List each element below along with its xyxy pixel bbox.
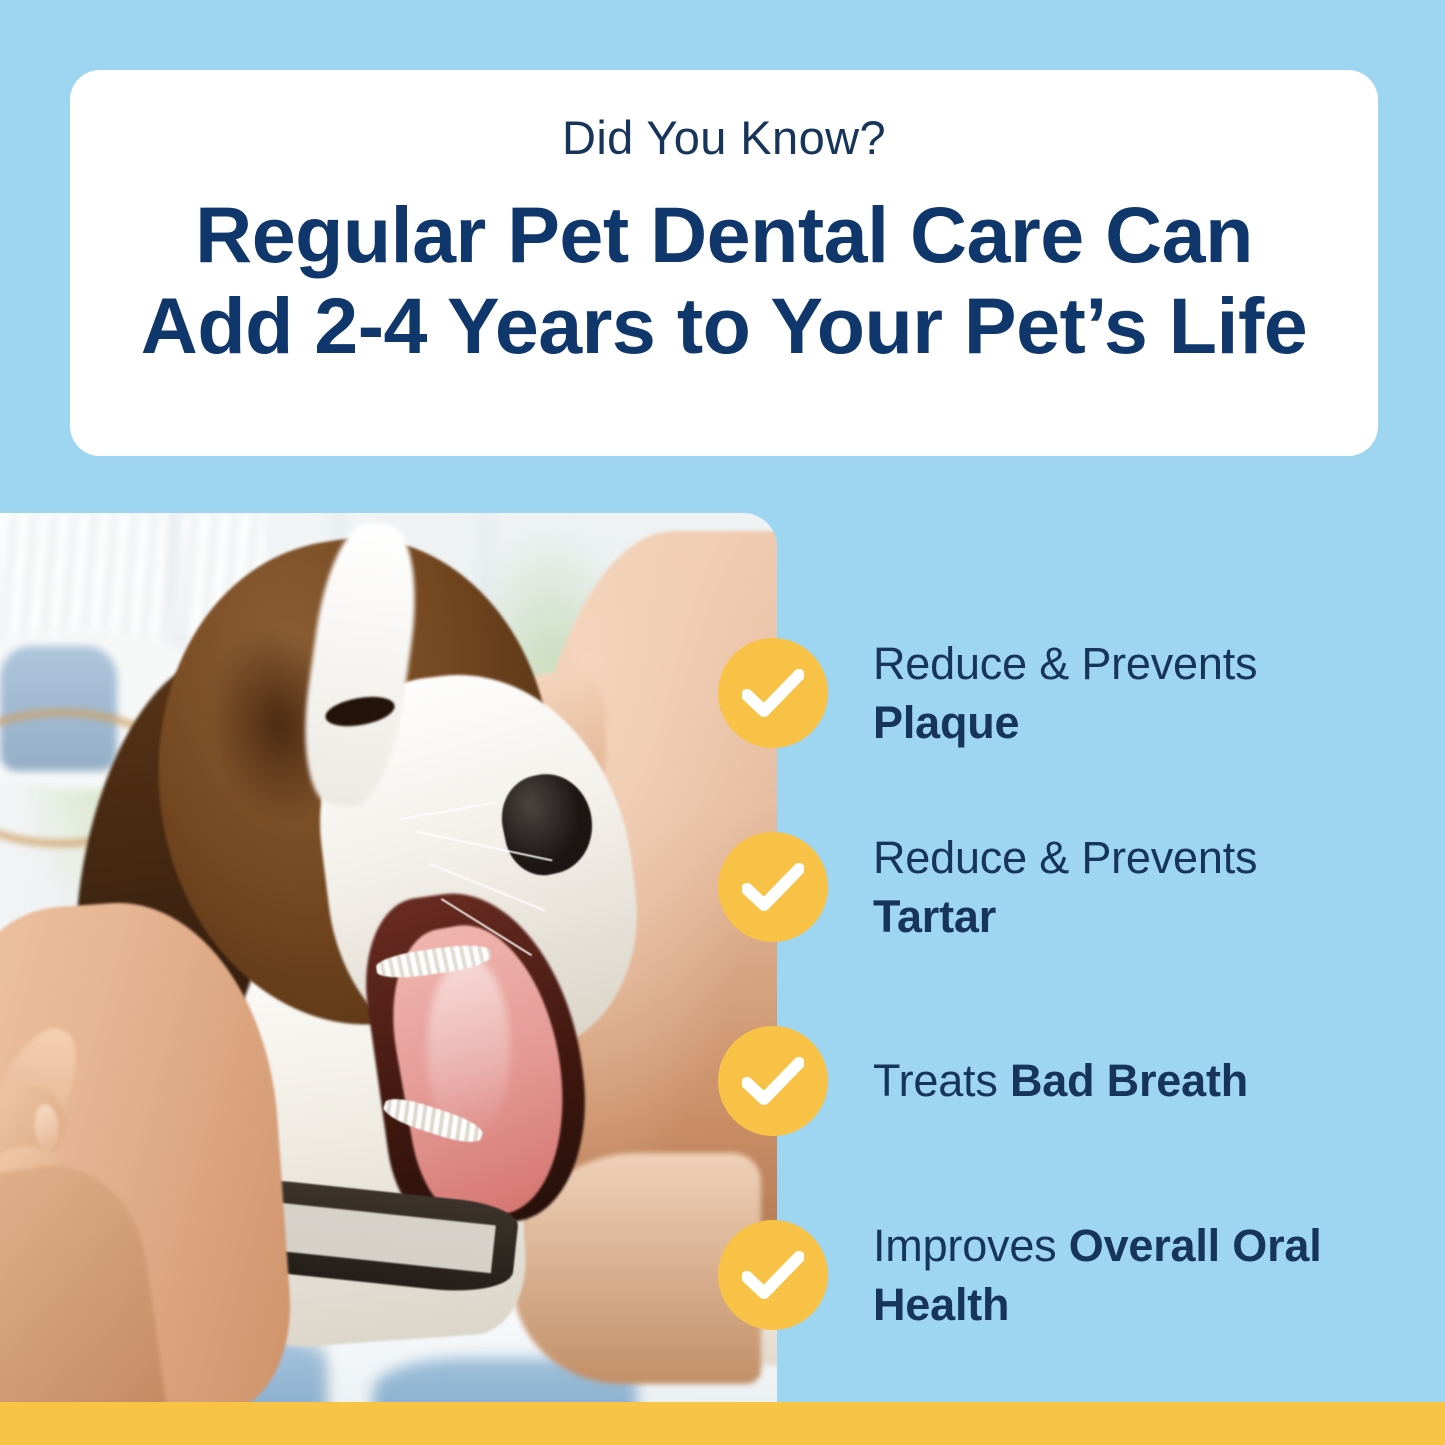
page-title-line-2: Add 2-4 Years to Your Pet’s Life xyxy=(141,281,1307,372)
checklist-item-tartar: Reduce & Prevents Tartar xyxy=(718,790,1378,984)
check-icon xyxy=(718,1220,828,1330)
page-title-line-1: Regular Pet Dental Care Can xyxy=(195,190,1253,279)
checklist-item-prefix: Reduce & Prevents xyxy=(873,832,1257,883)
dog-photo xyxy=(0,513,777,1402)
infographic-poster: Did You Know? Regular Pet Dental Care Ca… xyxy=(0,0,1445,1445)
checklist-item-prefix: Improves xyxy=(873,1220,1069,1271)
checklist-item-bad-breath: Treats Bad Breath xyxy=(718,984,1378,1178)
headline-card: Did You Know? Regular Pet Dental Care Ca… xyxy=(70,70,1378,456)
checklist-item-text: Reduce & Prevents Tartar xyxy=(873,828,1378,947)
check-icon xyxy=(718,638,828,748)
checklist-item-emphasis: Tartar xyxy=(873,891,996,942)
checklist-item-prefix: Treats xyxy=(873,1055,1010,1106)
checklist-item-emphasis: Plaque xyxy=(873,697,1019,748)
page-title: Regular Pet Dental Care Can Add 2-4 Year… xyxy=(115,190,1333,372)
benefits-checklist: Reduce & Prevents Plaque Reduce & Preven… xyxy=(718,596,1378,1372)
bottom-accent-bar xyxy=(0,1402,1445,1445)
checklist-item-text: Treats Bad Breath xyxy=(873,1051,1248,1110)
dog-whiskers xyxy=(414,790,656,1041)
check-icon xyxy=(718,1026,828,1136)
checklist-item-text: Reduce & Prevents Plaque xyxy=(873,634,1378,753)
checklist-item-plaque: Reduce & Prevents Plaque xyxy=(718,596,1378,790)
checklist-item-prefix: Reduce & Prevents xyxy=(873,638,1257,689)
eyebrow-text: Did You Know? xyxy=(562,112,886,164)
photo-scene xyxy=(0,513,777,1402)
checklist-item-text: Improves Overall Oral Health xyxy=(873,1216,1378,1335)
checklist-item-oral-health: Improves Overall Oral Health xyxy=(718,1178,1378,1372)
check-icon xyxy=(718,832,828,942)
checklist-item-emphasis: Bad Breath xyxy=(1010,1055,1248,1106)
